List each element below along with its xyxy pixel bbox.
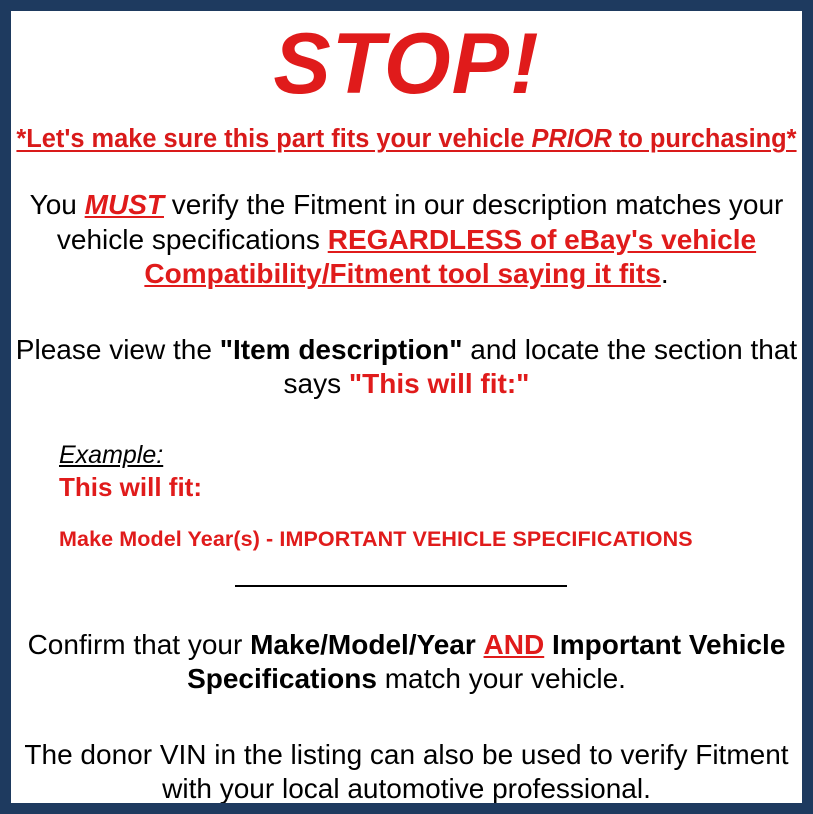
para3-space-a [476, 629, 484, 660]
example-block: Example: This will fit: Make Model Year(… [11, 441, 802, 553]
para3-seg5: match your vehicle. [377, 663, 626, 694]
section-divider [235, 585, 567, 587]
paragraph-verify-fitment: You MUST verify the Fitment in our descr… [11, 188, 802, 290]
fitment-notice-card: STOP! *Let's make sure this part fits yo… [0, 0, 813, 814]
example-label: Example: [59, 441, 802, 470]
subtitle-text-before: *Let's make sure this part fits your veh… [16, 125, 531, 153]
emphasis-make-model-year: Make/Model/Year [250, 629, 476, 660]
emphasis-must: MUST [85, 189, 164, 220]
subtitle-banner: *Let's make sure this part fits your veh… [13, 125, 800, 153]
paragraph-donor-vin: The donor VIN in the listing can also be… [11, 738, 802, 806]
subtitle-text-after: to purchasing* [612, 125, 797, 153]
paragraph-confirm-match: Confirm that your Make/Model/Year AND Im… [11, 628, 802, 696]
emphasis-this-will-fit: "This will fit:" [349, 368, 530, 399]
notice-content: STOP! *Let's make sure this part fits yo… [11, 11, 802, 803]
emphasis-and: AND [484, 629, 545, 660]
example-fit-heading: This will fit: [59, 472, 802, 503]
para3-seg1: Confirm that your [28, 629, 251, 660]
paragraph-item-description: Please view the "Item description" and l… [11, 333, 802, 401]
divider-wrap [11, 579, 802, 593]
para1-seg5: . [661, 258, 669, 289]
page-title: STOP! [11, 11, 802, 109]
para1-seg1: You [30, 189, 85, 220]
emphasis-item-description: "Item description" [220, 334, 463, 365]
subtitle-emphasis-prior: PRIOR [532, 125, 612, 153]
para3-space-b [544, 629, 552, 660]
para2-seg1: Please view the [16, 334, 220, 365]
example-spec-line: Make Model Year(s) - IMPORTANT VEHICLE S… [59, 527, 802, 553]
